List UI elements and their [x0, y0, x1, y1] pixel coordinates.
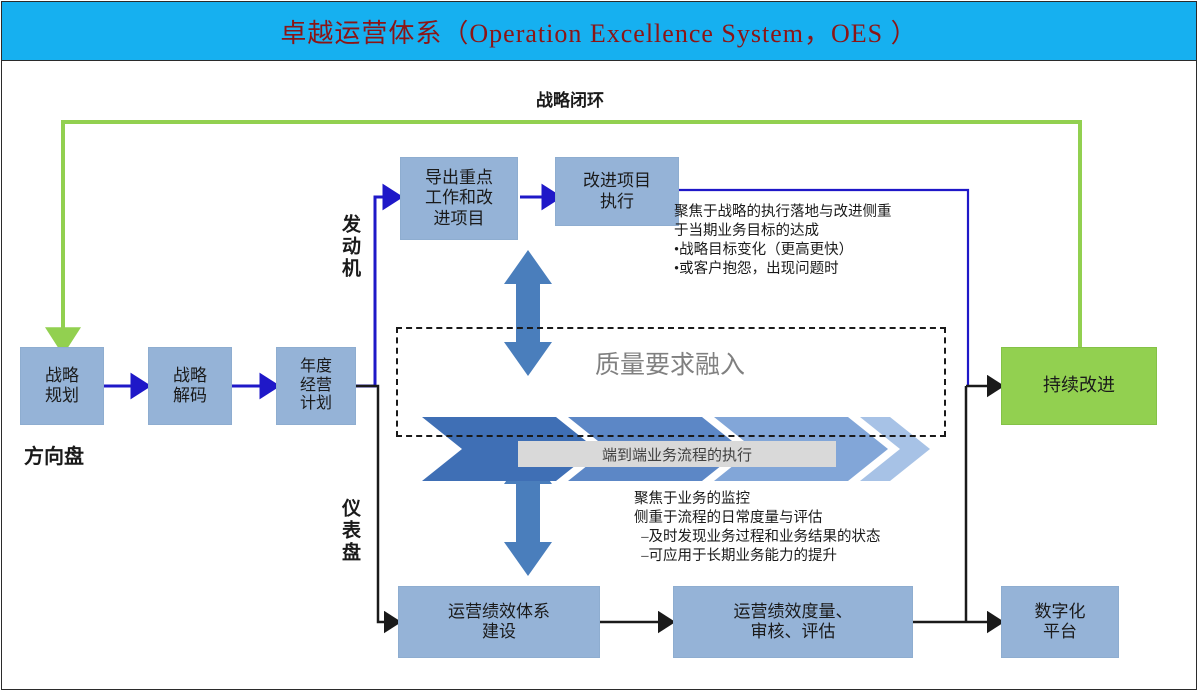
label-engine: 发动机 [336, 214, 363, 280]
process-band-label: 端到端业务流程的执行 [602, 444, 752, 465]
diagram-root: 卓越运营体系（Operation Excellence System，OES ） [0, 0, 1199, 692]
box-ops-perf-system[interactable]: 运营绩效体系建设 [398, 586, 600, 658]
box-continuous-improve[interactable]: 持续改进 [1001, 347, 1157, 425]
box-digital-platform-label: 数字化平台 [1033, 602, 1088, 642]
arrow-right-spine-to-continuousimprove [966, 386, 995, 622]
box-annual-plan[interactable]: 年度经营计划 [276, 347, 356, 425]
box-ops-perf-measure[interactable]: 运营绩效度量、审核、评估 [673, 586, 913, 658]
box-strategy-planning[interactable]: 战略规划 [20, 347, 104, 425]
box-export-key-work-label: 导出重点工作和改进项目 [423, 168, 495, 228]
box-digital-platform[interactable]: 数字化平台 [1001, 586, 1119, 658]
process-dashed-container [396, 327, 946, 437]
note-dashboard: 聚焦于业务的监控侧重于流程的日常度量与评估 –及时发现业务过程和业务结果的状态 … [634, 490, 881, 565]
box-strategy-planning-label: 战略规划 [43, 366, 81, 406]
diagram-canvas: 战略闭环 发动机 仪表盘 方向盘 战略规划 战略解码 年度经营计划 导出重点工作… [0, 62, 1199, 692]
process-overlay-title: 质量要求融入 [595, 345, 745, 381]
arrow-strategy-loop [63, 122, 1080, 347]
label-dashboard: 仪表盘 [336, 498, 363, 564]
page-title: 卓越运营体系（Operation Excellence System，OES ） [280, 13, 917, 50]
note-engine: 聚焦于战略的执行落地与改进侧重于当期业务目标的达成•战略目标变化（更高更快）•或… [674, 203, 892, 278]
box-annual-plan-label: 年度经营计划 [298, 358, 334, 415]
process-band[interactable]: 端到端业务流程的执行 [518, 441, 836, 467]
box-improve-exec[interactable]: 改进项目执行 [555, 157, 679, 226]
box-ops-perf-measure-label: 运营绩效度量、审核、评估 [732, 602, 855, 642]
box-strategy-decoding-label: 战略解码 [171, 366, 209, 406]
box-strategy-decoding[interactable]: 战略解码 [148, 347, 232, 425]
box-continuous-improve-label: 持续改进 [1041, 375, 1117, 396]
box-improve-exec-label: 改进项目执行 [581, 171, 653, 211]
title-bar: 卓越运营体系（Operation Excellence System，OES ） [2, 2, 1196, 61]
label-steering-wheel: 方向盘 [24, 444, 84, 470]
label-strategy-loop: 战略闭环 [536, 90, 604, 112]
box-ops-perf-system-label: 运营绩效体系建设 [446, 602, 552, 642]
box-export-key-work[interactable]: 导出重点工作和改进项目 [400, 157, 518, 240]
